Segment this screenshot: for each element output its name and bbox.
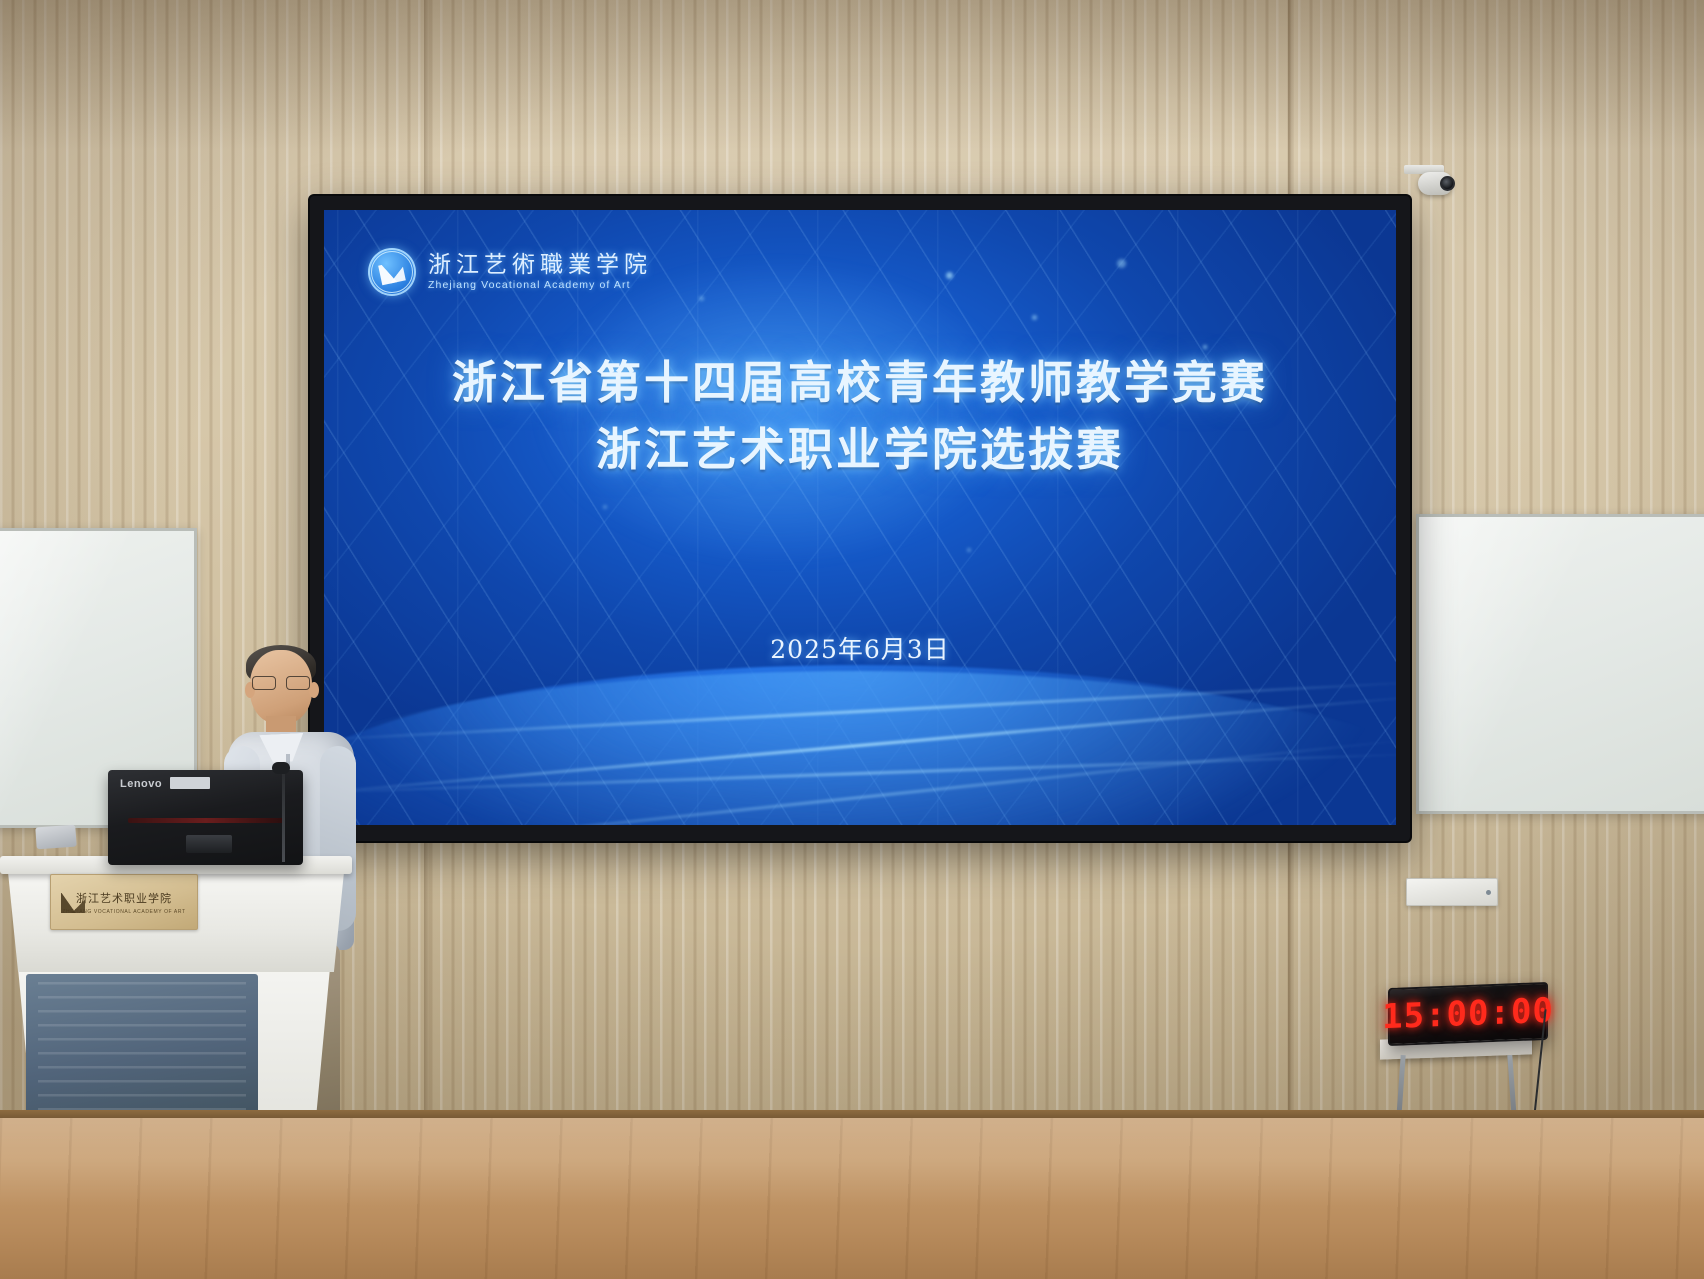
lecture-hall-scene: 浙江艺術職業学院 Zhejiang Vocational Academy of …	[0, 0, 1704, 1279]
whiteboard-sheen	[1419, 517, 1704, 811]
slide-bokeh-dot	[946, 272, 953, 279]
podium-equipment-panel	[26, 974, 258, 1124]
slide-title-line-2: 浙江艺术职业学院选拔赛	[324, 423, 1396, 476]
podium-name-plaque: 浙江艺术职业学院 ZHEJIANG VOCATIONAL ACADEMY OF …	[50, 874, 198, 930]
whiteboard-right	[1416, 514, 1704, 814]
hall-floor	[0, 1118, 1704, 1279]
podium-monitor[interactable]: Lenovo	[108, 770, 303, 865]
slide-title-block: 浙江省第十四届高校青年教师教学竞赛 浙江艺术职业学院选拔赛	[324, 356, 1396, 476]
monitor-asset-sticker	[170, 777, 210, 789]
academy-bird-icon	[61, 893, 85, 913]
slide-bokeh-dot	[603, 505, 607, 509]
academy-crest-icon	[368, 248, 416, 296]
plaque-text-cn: 浙江艺术职业学院	[76, 890, 172, 906]
slide-academy-logo: 浙江艺術職業学院 Zhejiang Vocational Academy of …	[368, 248, 652, 296]
podium-panel-vents	[38, 982, 246, 1116]
camera-lens-icon	[1440, 176, 1455, 191]
wall-control-box[interactable]	[1406, 878, 1498, 906]
monitor-port-cluster	[186, 835, 232, 853]
presenter-ear	[309, 682, 319, 698]
slide-bokeh-dot	[1032, 315, 1037, 320]
academy-logo-text: 浙江艺術職業学院 Zhejiang Vocational Academy of …	[428, 253, 652, 291]
presenter-glasses	[252, 676, 310, 689]
projection-screen-frame: 浙江艺術職業学院 Zhejiang Vocational Academy of …	[310, 196, 1410, 841]
microphone-stem	[282, 770, 285, 862]
microphone-icon	[272, 762, 290, 774]
digital-clock-display: 15:00:00	[1388, 982, 1548, 1046]
monitor-light-strip	[128, 818, 284, 823]
monitor-brand-label: Lenovo	[120, 778, 162, 790]
floor-gloss	[0, 1118, 1704, 1279]
academy-name-en: Zhejiang Vocational Academy of Art	[428, 280, 652, 291]
academy-name-cn: 浙江艺術職業学院	[428, 253, 652, 277]
presentation-slide: 浙江艺術職業学院 Zhejiang Vocational Academy of …	[324, 210, 1396, 825]
slide-title-line-1: 浙江省第十四届高校青年教师教学竞赛	[324, 356, 1396, 409]
slide-date: 2025年6月3日	[324, 630, 1396, 666]
crest-ring	[371, 251, 413, 293]
podium-laptop[interactable]	[35, 825, 76, 850]
clock-time-digits: 15:00:00	[1382, 991, 1554, 1038]
status-led-icon	[1486, 890, 1491, 895]
